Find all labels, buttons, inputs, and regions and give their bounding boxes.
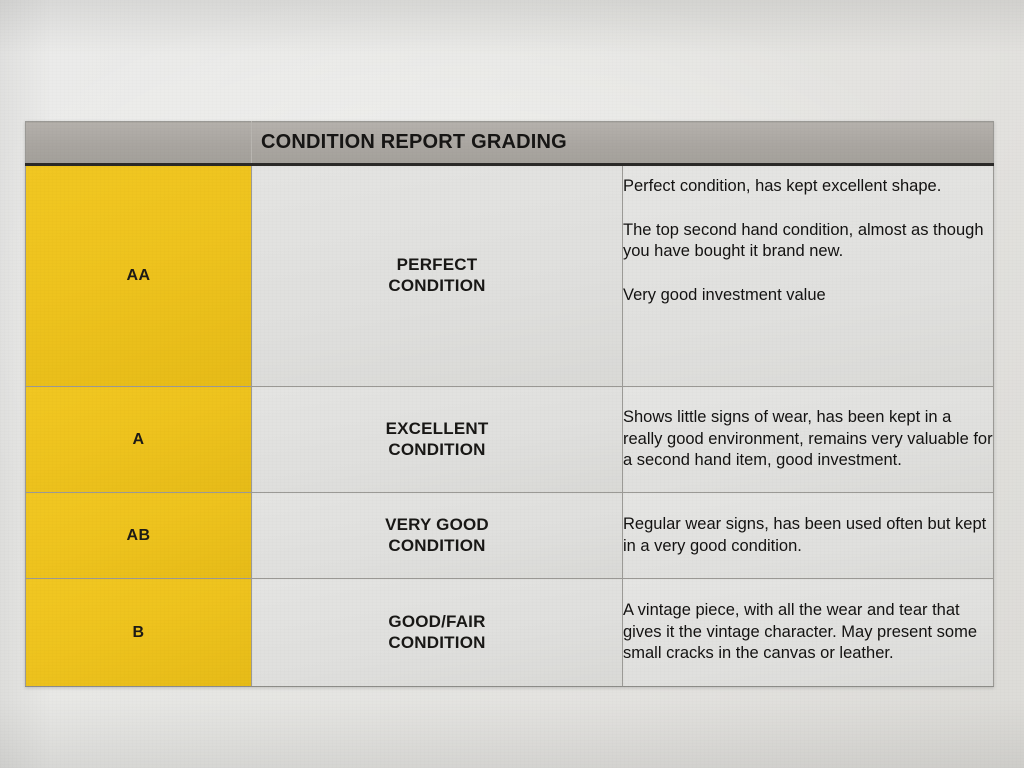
page-title: CONDITION REPORT GRADING <box>252 122 993 163</box>
table-row: AA PERFECT CONDITION Perfect condition, … <box>26 165 994 387</box>
condition-cell-b: GOOD/FAIR CONDITION <box>252 579 623 687</box>
grade-cell-aa: AA <box>26 165 252 387</box>
grade-label: AA <box>127 267 151 284</box>
condition-label-line1: VERY GOOD <box>385 515 489 534</box>
condition-label: PERFECT CONDITION <box>252 255 622 296</box>
description-paragraph: A vintage piece, with all the wear and t… <box>623 600 993 665</box>
condition-report-grading-table: CONDITION REPORT GRADING AA PERFECT COND… <box>25 121 994 687</box>
condition-label-line1: PERFECT <box>397 255 478 274</box>
grade-cell-a: A <box>26 387 252 493</box>
table-header-row: CONDITION REPORT GRADING <box>26 122 994 165</box>
condition-cell-ab: VERY GOOD CONDITION <box>252 493 623 579</box>
description-paragraph: Shows little signs of wear, has been kep… <box>623 407 993 472</box>
grade-cell-b: B <box>26 579 252 687</box>
description-cell-b: A vintage piece, with all the wear and t… <box>623 579 994 687</box>
condition-cell-aa: PERFECT CONDITION <box>252 165 623 387</box>
header-title-cell: CONDITION REPORT GRADING <box>252 122 994 165</box>
condition-label-line2: CONDITION <box>388 440 485 459</box>
condition-label: GOOD/FAIR CONDITION <box>252 612 622 653</box>
grade-label: AB <box>127 527 151 544</box>
table-row: AB VERY GOOD CONDITION Regular wear sign… <box>26 493 994 579</box>
description-cell-ab: Regular wear signs, has been used often … <box>623 493 994 579</box>
description-paragraph: Very good investment value <box>623 285 993 307</box>
condition-label-line1: EXCELLENT <box>386 419 489 438</box>
table-row: B GOOD/FAIR CONDITION A vintage piece, w… <box>26 579 994 687</box>
description-cell-a: Shows little signs of wear, has been kep… <box>623 387 994 493</box>
grade-label: B <box>133 624 145 641</box>
header-spacer-cell <box>26 122 252 165</box>
grade-label: A <box>133 431 145 448</box>
description-paragraph: The top second hand condition, almost as… <box>623 220 993 263</box>
condition-label-line2: CONDITION <box>388 536 485 555</box>
condition-label-line2: CONDITION <box>388 633 485 652</box>
description-paragraph: Perfect condition, has kept excellent sh… <box>623 176 993 198</box>
condition-label-line1: GOOD/FAIR <box>388 612 485 631</box>
condition-label-line2: CONDITION <box>388 276 485 295</box>
condition-label: VERY GOOD CONDITION <box>252 515 622 556</box>
table-row: A EXCELLENT CONDITION Shows little signs… <box>26 387 994 493</box>
grade-cell-ab: AB <box>26 493 252 579</box>
condition-label: EXCELLENT CONDITION <box>252 419 622 460</box>
condition-cell-a: EXCELLENT CONDITION <box>252 387 623 493</box>
description-cell-aa: Perfect condition, has kept excellent sh… <box>623 165 994 387</box>
condition-report-table-container: CONDITION REPORT GRADING AA PERFECT COND… <box>25 121 994 641</box>
description-paragraph: Regular wear signs, has been used often … <box>623 514 993 557</box>
